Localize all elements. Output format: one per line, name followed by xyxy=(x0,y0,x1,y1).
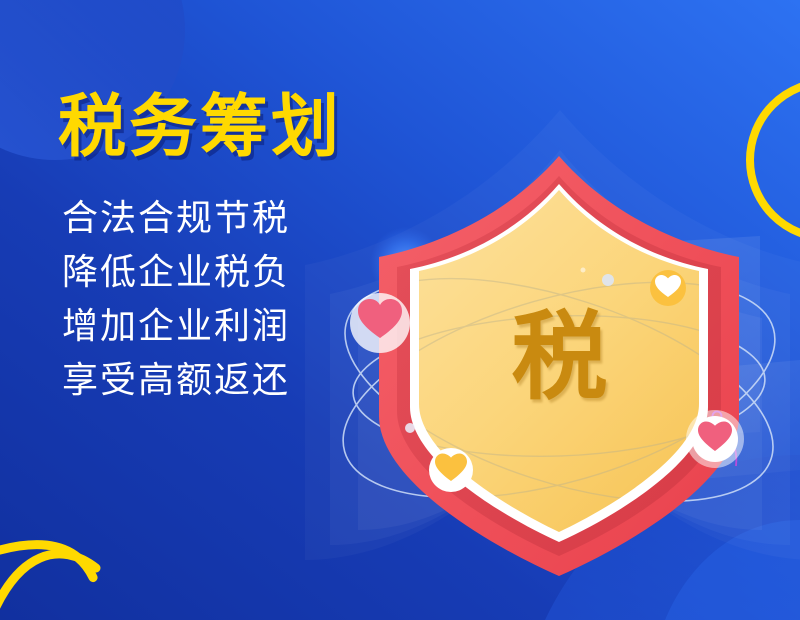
heart-badge-top-right xyxy=(650,270,686,306)
orbit-dot-small xyxy=(581,268,586,273)
page-title: 税务筹划 xyxy=(58,92,388,163)
headline-block: 税务筹划 合法合规节税 降低企业税负 增加企业利润 享受高额返还 xyxy=(58,92,388,407)
orbit-dot-upper xyxy=(602,274,614,286)
orbit-dot-lower-left xyxy=(405,423,415,433)
tax-shield-emblem: 税 xyxy=(318,128,800,578)
heart-badge-right xyxy=(686,410,744,468)
list-item: 合法合规节税 xyxy=(62,191,388,245)
accent-arc-bottom-left xyxy=(0,537,97,578)
accent-arc-bottom-left-tail xyxy=(0,554,96,620)
list-item: 降低企业税负 xyxy=(62,245,388,299)
list-item: 增加企业利润 xyxy=(62,299,388,353)
benefit-list: 合法合规节税 降低企业税负 增加企业利润 享受高额返还 xyxy=(62,191,388,407)
heart-badge-bottom-left xyxy=(429,448,473,492)
list-item: 享受高额返还 xyxy=(62,353,388,407)
tax-planning-banner: 税务筹划 合法合规节税 降低企业税负 增加企业利润 享受高额返还 xyxy=(0,0,800,620)
